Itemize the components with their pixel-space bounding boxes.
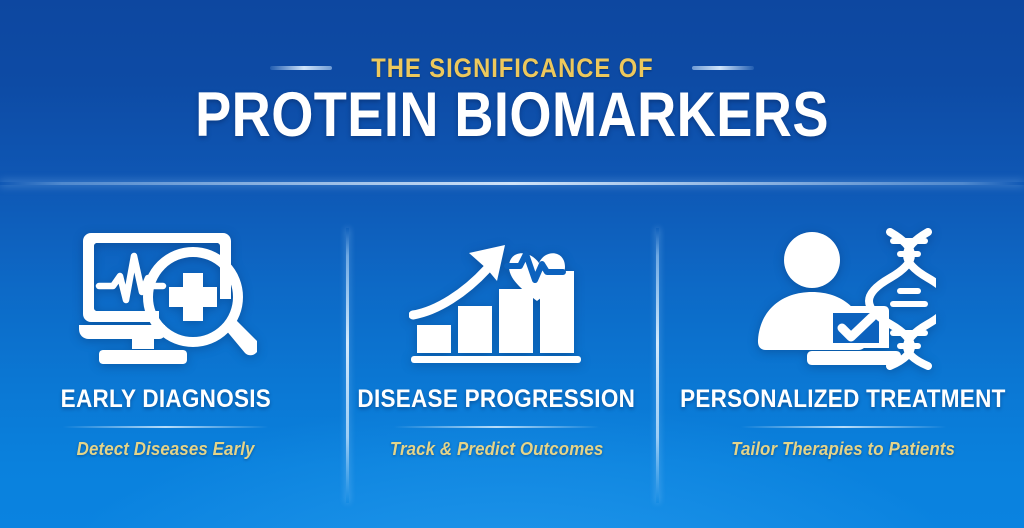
- poster-header: THE SIGNIFICANCE OF PROTEIN BIOMARKERS: [0, 0, 1024, 184]
- column-title-underline: [394, 426, 599, 428]
- person-laptop-check-dna-icon: [750, 215, 936, 383]
- header-divider: [0, 182, 1024, 185]
- column-title: EARLY DIAGNOSIS: [60, 385, 270, 414]
- infographic-poster: THE SIGNIFICANCE OF PROTEIN BIOMARKERS: [0, 0, 1024, 528]
- eyebrow-text: THE SIGNIFICANCE OF: [371, 53, 653, 84]
- feature-column-personalized-treatment: PERSONALIZED TREATMENT Tailor Therapies …: [662, 215, 1024, 515]
- eyebrow-dash-right-icon: [692, 66, 754, 70]
- column-subtitle: Tailor Therapies to Patients: [731, 439, 955, 460]
- column-title: PERSONALIZED TREATMENT: [680, 385, 1006, 414]
- monitor-ecg-magnifier-cross-icon: [75, 215, 257, 383]
- eyebrow-dash-left-icon: [270, 66, 332, 70]
- feature-column-disease-progression: DISEASE PROGRESSION Track & Predict Outc…: [331, 215, 662, 515]
- page-title: PROTEIN BIOMARKERS: [72, 84, 953, 147]
- column-subtitle: Track & Predict Outcomes: [390, 439, 604, 460]
- bar-chart-arrow-heart-ecg-icon: [409, 215, 585, 383]
- column-subtitle: Detect Diseases Early: [77, 439, 255, 460]
- column-title-underline: [741, 426, 946, 428]
- column-title-underline: [63, 426, 268, 428]
- column-title: DISEASE PROGRESSION: [358, 385, 636, 414]
- feature-column-early-diagnosis: EARLY DIAGNOSIS Detect Diseases Early: [0, 215, 331, 515]
- feature-columns: EARLY DIAGNOSIS Detect Diseases Early: [0, 215, 1024, 515]
